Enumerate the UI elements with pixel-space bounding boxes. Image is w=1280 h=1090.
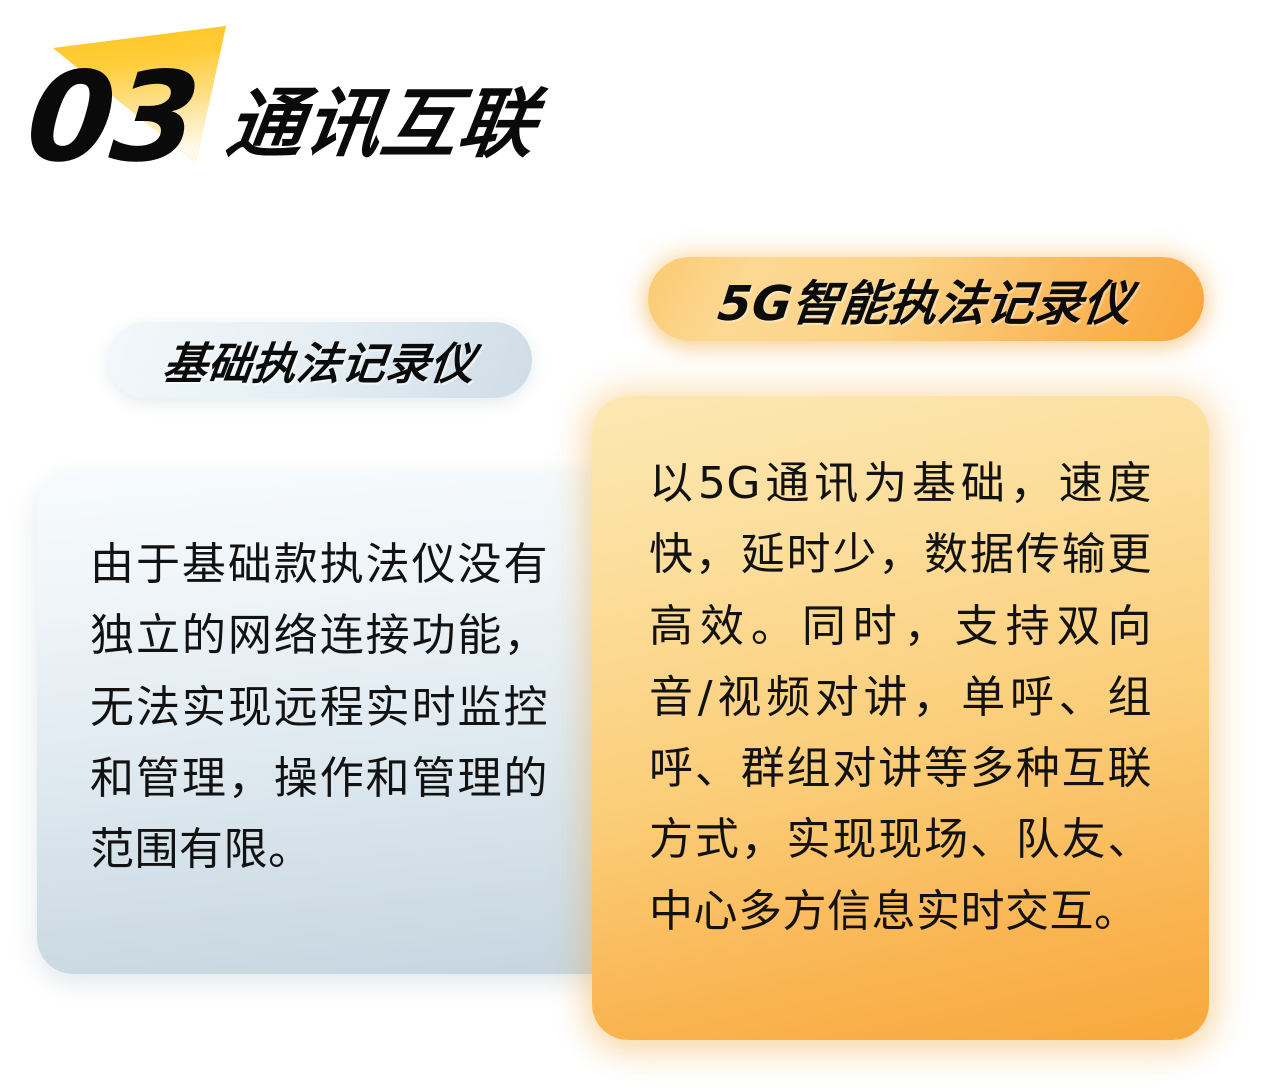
badge-basic-device-label: 基础执法记录仪 xyxy=(160,328,479,392)
card-5g-device: 以5G通讯为基础，速度快，延时少，数据传输更高效。同时，支持双向音/视频对讲，单… xyxy=(592,396,1209,1040)
card-basic-device: 由于基础款执法仪没有独立的网络连接功能，无法实现远程实时监控和管理，操作和管理的… xyxy=(37,472,629,974)
badge-5g-device: 5G智能执法记录仪 xyxy=(648,257,1204,341)
card-5g-body-text: 以5G通讯为基础，速度快，延时少，数据传输更高效。同时，支持双向音/视频对讲，单… xyxy=(649,448,1152,947)
card-basic-body-text: 由于基础款执法仪没有独立的网络连接功能，无法实现远程实时监控和管理，操作和管理的… xyxy=(90,529,548,885)
badge-basic-device: 基础执法记录仪 xyxy=(108,322,532,398)
comparison-container: 由于基础款执法仪没有独立的网络连接功能，无法实现远程实时监控和管理，操作和管理的… xyxy=(0,0,1280,1090)
badge-5g-device-label: 5G智能执法记录仪 xyxy=(715,264,1137,334)
